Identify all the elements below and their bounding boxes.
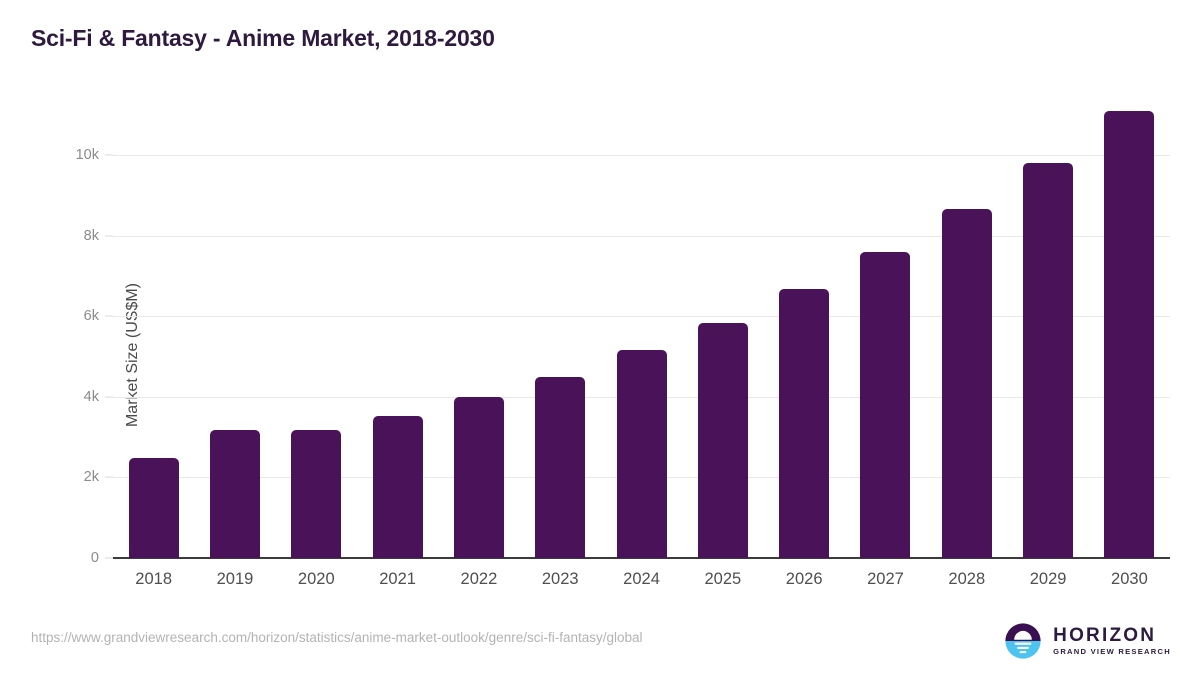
horizon-logo-text: HORIZON GRAND VIEW RESEARCH: [1053, 626, 1171, 656]
bar-slot: [276, 118, 357, 558]
bar-2030[interactable]: [1104, 111, 1154, 558]
y-axis-tick-label: 2k: [84, 469, 99, 485]
y-axis-tick-label: 8k: [84, 228, 99, 244]
bar-2026[interactable]: [779, 289, 829, 558]
bar-2027[interactable]: [860, 252, 910, 558]
x-axis-tick-label-2029: 2029: [1007, 570, 1088, 589]
bar-2023[interactable]: [535, 377, 585, 558]
source-url[interactable]: https://www.grandviewresearch.com/horizo…: [31, 630, 643, 645]
y-axis-tick-label: 0: [91, 550, 99, 566]
bar-2021[interactable]: [373, 416, 423, 558]
bar-2025[interactable]: [698, 323, 748, 558]
bar-slot: [194, 118, 275, 558]
chart-footer: https://www.grandviewresearch.com/horizo…: [0, 614, 1200, 675]
bar-2020[interactable]: [291, 430, 341, 558]
bar-slot: [520, 118, 601, 558]
x-axis-tick-group: 2018201920202021202220232024202520262027…: [113, 570, 1170, 589]
horizon-logo[interactable]: HORIZON GRAND VIEW RESEARCH: [1002, 620, 1171, 662]
x-axis-tick-label-2024: 2024: [601, 570, 682, 589]
y-axis-tick-mark: [105, 558, 113, 559]
bar-2029[interactable]: [1023, 163, 1073, 558]
bar-slot: [845, 118, 926, 558]
x-axis-tick-label-2025: 2025: [682, 570, 763, 589]
logo-brand-name: HORIZON: [1053, 626, 1171, 645]
y-axis-tick-mark: [105, 477, 113, 478]
bar-2019[interactable]: [210, 430, 260, 558]
bar-slot: [601, 118, 682, 558]
bar-slot: [1089, 118, 1170, 558]
x-axis-tick-label-2027: 2027: [845, 570, 926, 589]
bar-slot: [357, 118, 438, 558]
bar-slot: [438, 118, 519, 558]
x-axis-tick-label-2021: 2021: [357, 570, 438, 589]
y-axis-tick-mark: [105, 396, 113, 397]
bar-2028[interactable]: [942, 209, 992, 558]
x-axis-tick-label-2023: 2023: [520, 570, 601, 589]
y-axis-tick-mark: [105, 235, 113, 236]
x-axis-tick-label-2030: 2030: [1089, 570, 1170, 589]
x-axis-tick-label-2028: 2028: [926, 570, 1007, 589]
x-axis-tick-label-2026: 2026: [764, 570, 845, 589]
bar-slot: [926, 118, 1007, 558]
y-axis-tick-group: 02k4k6k8k10k: [0, 0, 113, 675]
horizon-logo-mark-icon: [1002, 620, 1044, 662]
x-axis-tick-label-2020: 2020: [276, 570, 357, 589]
chart-page: Sci-Fi & Fantasy - Anime Market, 2018-20…: [0, 0, 1200, 675]
y-axis-tick-mark: [105, 316, 113, 317]
bar-2018[interactable]: [129, 458, 179, 558]
x-axis-tick-label-2022: 2022: [438, 570, 519, 589]
x-axis-tick-label-2018: 2018: [113, 570, 194, 589]
bar-series: [113, 118, 1170, 558]
logo-tagline: GRAND VIEW RESEARCH: [1053, 648, 1171, 656]
y-axis-tick-label: 6k: [84, 308, 99, 324]
bar-2022[interactable]: [454, 397, 504, 558]
bar-slot: [764, 118, 845, 558]
x-axis-tick-label-2019: 2019: [194, 570, 275, 589]
bar-slot: [682, 118, 763, 558]
y-axis-tick-label: 4k: [84, 389, 99, 405]
bar-slot: [113, 118, 194, 558]
bar-2024[interactable]: [617, 350, 667, 558]
y-axis-tick-mark: [105, 155, 113, 156]
y-axis-tick-label: 10k: [76, 147, 99, 163]
bar-slot: [1007, 118, 1088, 558]
